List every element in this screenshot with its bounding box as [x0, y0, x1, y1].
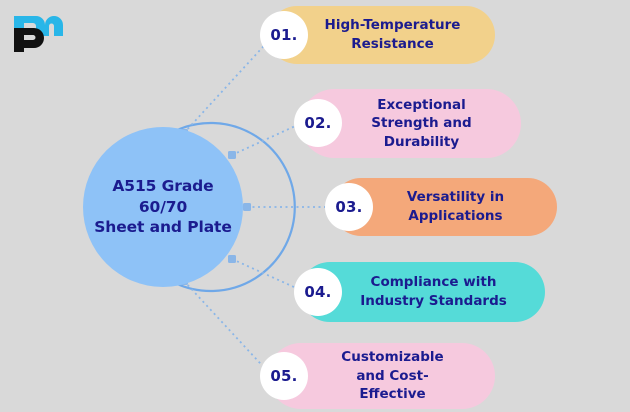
item-badge-5[interactable]: 05.: [260, 352, 308, 400]
connector-line-5: [184, 281, 271, 375]
item-label-3: Versatility in Applications: [373, 188, 516, 225]
item-badge-3[interactable]: 03.: [325, 183, 373, 231]
hub-title: A515 Grade 60/70 Sheet and Plate: [83, 176, 243, 239]
item-number-3: 03.: [335, 198, 362, 216]
item-badge-1[interactable]: 01.: [260, 11, 308, 59]
item-label-1: High-Temperature Resistance: [291, 16, 473, 53]
connector-line-2: [232, 122, 304, 155]
item-label-4: Compliance with Industry Standards: [326, 273, 519, 310]
item-label-2: Exceptional Strength and Durability: [337, 96, 483, 152]
item-label-5: Customizable and Cost- Effective: [307, 348, 455, 404]
infographic-canvas: A515 Grade 60/70 Sheet and Plate High-Te…: [0, 0, 630, 412]
hub-circle: A515 Grade 60/70 Sheet and Plate: [83, 127, 243, 287]
connector-node-2: [228, 151, 236, 159]
item-number-2: 02.: [304, 114, 331, 132]
connector-line-1: [184, 37, 272, 133]
connector-node-4: [228, 255, 236, 263]
connector-node-3: [243, 203, 251, 211]
item-badge-2[interactable]: 02.: [294, 99, 342, 147]
item-number-1: 01.: [270, 26, 297, 44]
item-number-4: 04.: [304, 283, 331, 301]
item-number-5: 05.: [270, 367, 297, 385]
item-badge-4[interactable]: 04.: [294, 268, 342, 316]
